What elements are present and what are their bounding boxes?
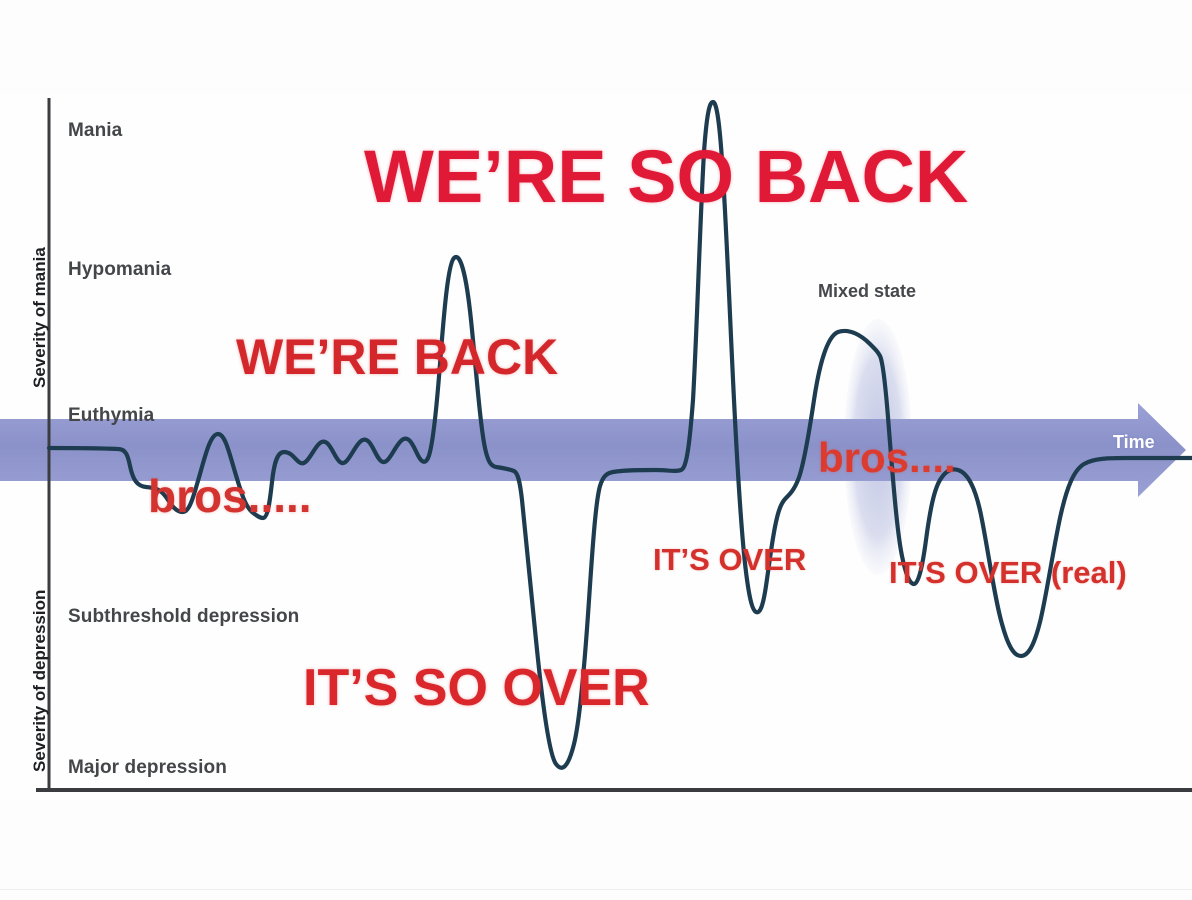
tier-label-euthymia: Euthymia	[68, 405, 154, 427]
caption-bros-first: bros.....	[148, 473, 312, 519]
y-axis-title-mania: Severity of mania	[30, 247, 50, 388]
caption-its-over: IT’S OVER	[653, 544, 806, 575]
caption-were-so-back: WE’RE SO BACK	[364, 140, 968, 214]
meme-image-root: Severity of mania Severity of depression…	[0, 0, 1192, 900]
caption-were-back: WE’RE BACK	[236, 332, 558, 382]
tier-label-mania: Mania	[68, 120, 122, 142]
tier-label-hypomania: Hypomania	[68, 259, 171, 281]
time-axis-label: Time	[1113, 432, 1155, 453]
mixed-state-label: Mixed state	[818, 281, 916, 302]
caption-bros-second: bros....	[818, 437, 956, 479]
caption-its-over-real: IT’S OVER (real)	[889, 557, 1127, 588]
tier-label-subthreshold-depression: Subthreshold depression	[68, 606, 299, 628]
caption-its-so-over: IT’S SO OVER	[303, 662, 650, 714]
y-axis-title-depression: Severity of depression	[30, 590, 50, 772]
tier-label-major-depression: Major depression	[68, 757, 227, 779]
